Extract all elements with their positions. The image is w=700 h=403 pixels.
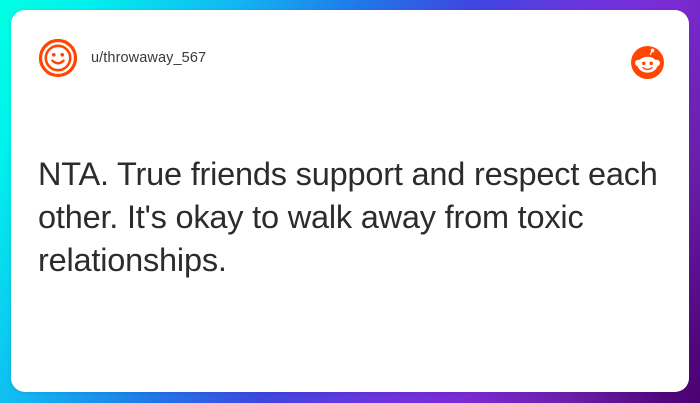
author-username: u/throwaway_567 [91, 50, 206, 66]
comment-card: u/throwaway_567 NTA. True friends [11, 10, 689, 392]
gradient-background: u/throwaway_567 NTA. True friends [0, 0, 700, 403]
reddit-snoo-icon[interactable] [631, 46, 664, 79]
smiley-face-avatar-icon[interactable] [38, 38, 78, 78]
comment-text: NTA. True friends support and respect ea… [38, 153, 658, 282]
author-block[interactable]: u/throwaway_567 [38, 38, 206, 78]
card-header: u/throwaway_567 [11, 10, 689, 106]
